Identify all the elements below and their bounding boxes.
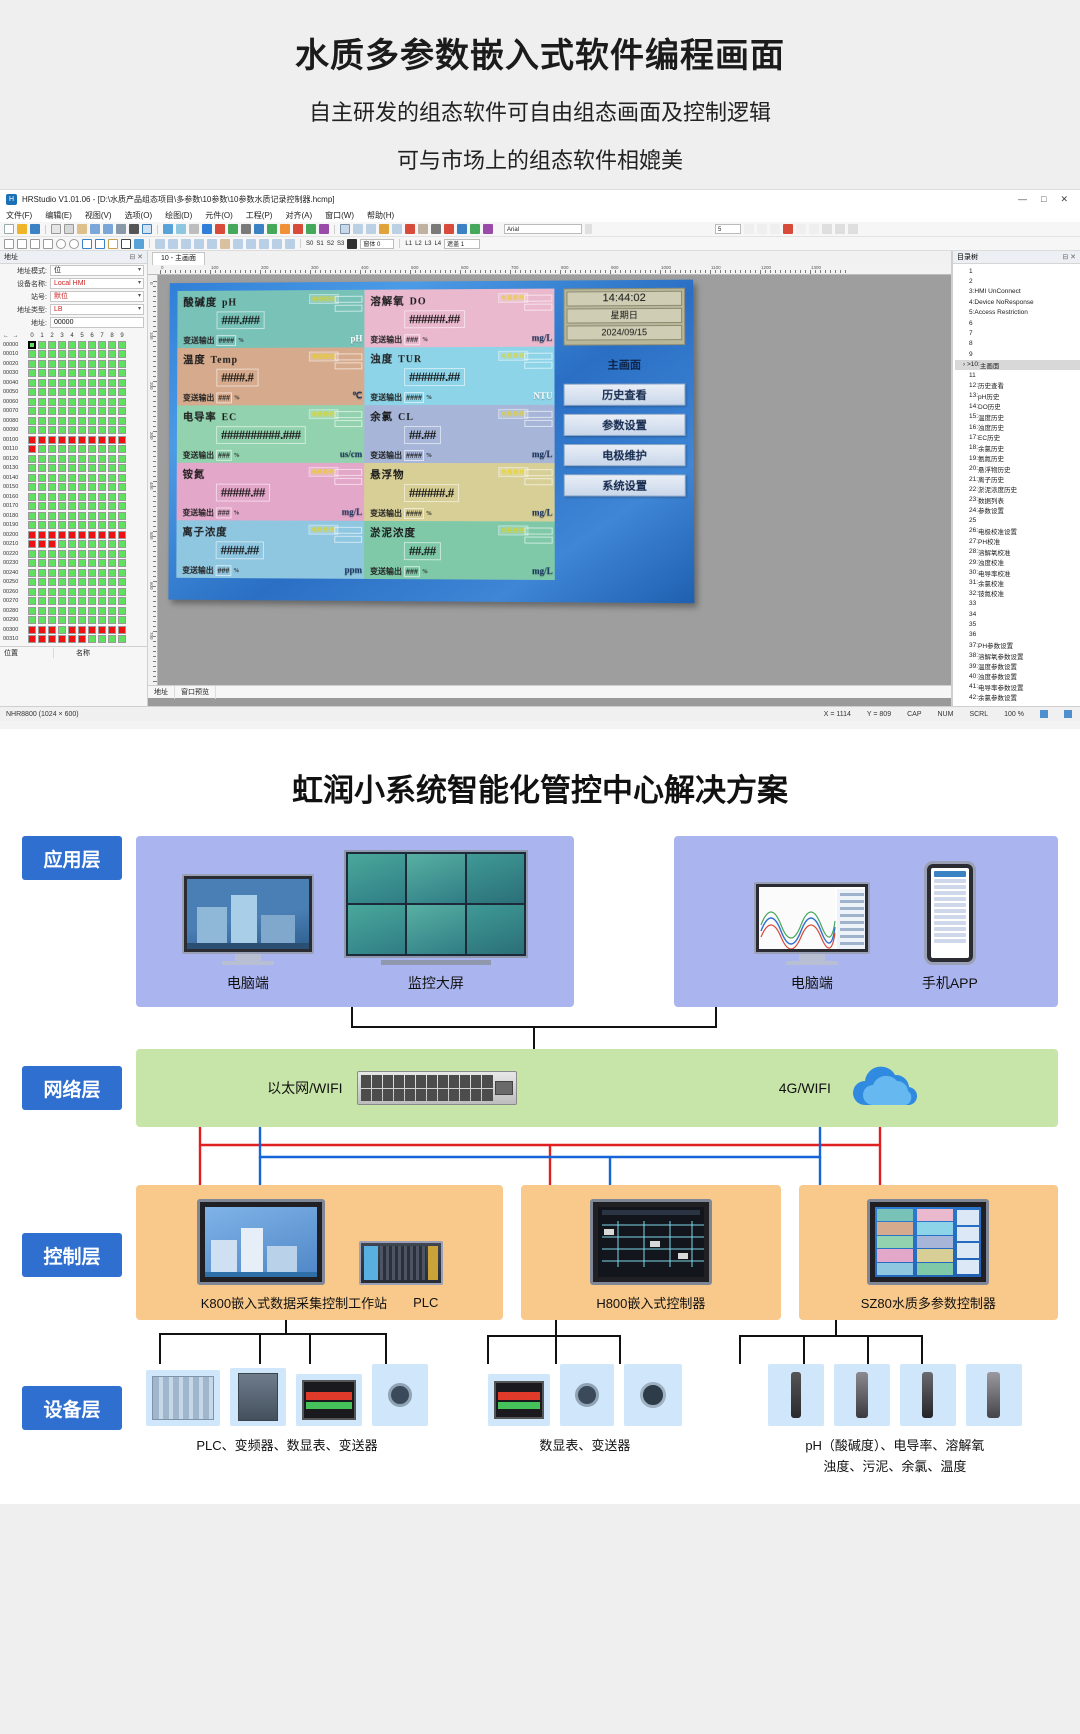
menu-options[interactable]: 选项(O) — [125, 210, 153, 221]
bar-graph-icon[interactable] — [259, 239, 269, 249]
bit-cell[interactable] — [88, 597, 96, 605]
bit-cell[interactable] — [68, 578, 76, 586]
bit-cell[interactable] — [68, 493, 76, 501]
bit-cell[interactable] — [38, 360, 46, 368]
bit-cell[interactable] — [68, 388, 76, 396]
bit-cell[interactable] — [108, 531, 116, 539]
undo-icon[interactable] — [90, 224, 100, 234]
bit-cell[interactable] — [98, 635, 106, 643]
bit-cell[interactable] — [98, 626, 106, 634]
tree-item[interactable]: 14: DO历史 — [955, 401, 1080, 411]
bit-cell[interactable] — [98, 398, 106, 406]
bit-cell[interactable] — [88, 531, 96, 539]
parameter-value-display[interactable]: ######.## — [404, 368, 465, 386]
hmi-preview[interactable]: 酸碱度pH电极断线###.###变送输出####%pH溶解氧DO电极断线####… — [168, 280, 694, 604]
bit-cell[interactable] — [88, 578, 96, 586]
bit-cell[interactable] — [88, 464, 96, 472]
tree-item[interactable]: 38: 溶解氧参数设置 — [955, 650, 1080, 660]
bit-cell[interactable] — [38, 569, 46, 577]
tree-item[interactable]: 12: 历史查看 — [955, 380, 1080, 390]
pointer-icon[interactable] — [142, 224, 152, 234]
bit-cell[interactable] — [98, 417, 106, 425]
tree-item[interactable]: 34 — [955, 609, 1080, 619]
layer-label-l4[interactable]: L4 — [434, 241, 441, 247]
copy-icon[interactable] — [51, 224, 61, 234]
bit-cell[interactable] — [88, 502, 96, 510]
bit-cell[interactable] — [58, 455, 66, 463]
shape-icon[interactable] — [176, 224, 186, 234]
parameter-card[interactable]: 余氯CL电极断线##.##变送输出####%mg/L — [364, 405, 554, 463]
bit-cell[interactable] — [78, 569, 86, 577]
bit-cell[interactable] — [108, 445, 116, 453]
bit-cell[interactable] — [58, 407, 66, 415]
bit-cell[interactable] — [98, 512, 106, 520]
tree-item[interactable]: 36 — [955, 630, 1080, 640]
bit-cell[interactable] — [98, 483, 106, 491]
bit-cell[interactable] — [38, 531, 46, 539]
minimize-button[interactable]: — — [1018, 194, 1027, 205]
bit-cell[interactable] — [28, 578, 36, 586]
bit-cell[interactable] — [98, 588, 106, 596]
transmit-output-value[interactable]: ### — [216, 507, 232, 518]
design-canvas[interactable]: 0100200300400500600700 酸碱度pH电极断线###.###变… — [148, 275, 951, 685]
bit-cell[interactable] — [108, 635, 116, 643]
bit-cell[interactable] — [68, 398, 76, 406]
tree-item[interactable]: 25 — [955, 515, 1080, 525]
font-grow-icon[interactable] — [744, 224, 754, 234]
new-file-icon[interactable] — [4, 224, 14, 234]
tree-item[interactable]: 35 — [955, 619, 1080, 629]
star-tool-icon[interactable] — [95, 239, 105, 249]
bit-cell[interactable] — [28, 521, 36, 529]
paste-icon[interactable] — [77, 224, 87, 234]
bit-cell[interactable] — [48, 407, 56, 415]
bit-cell[interactable] — [78, 607, 86, 615]
bit-cell[interactable] — [98, 540, 106, 548]
tree-item[interactable]: 3: HMI UnConnect — [955, 287, 1080, 297]
save-icon[interactable] — [30, 224, 40, 234]
picture-tool-icon[interactable] — [134, 239, 144, 249]
bit-lamp-icon[interactable] — [155, 239, 165, 249]
bit-cell[interactable] — [58, 417, 66, 425]
bit-cell[interactable] — [28, 502, 36, 510]
bit-cell[interactable] — [78, 588, 86, 596]
bit-cell[interactable] — [118, 464, 126, 472]
bit-cell[interactable] — [28, 350, 36, 358]
bit-cell[interactable] — [58, 502, 66, 510]
bit-cell[interactable] — [78, 436, 86, 444]
polyline-tool-icon[interactable] — [17, 239, 27, 249]
bit-cell[interactable] — [78, 550, 86, 558]
bit-cell[interactable] — [88, 445, 96, 453]
pin-icon[interactable] — [116, 224, 126, 234]
keypad-icon[interactable] — [285, 239, 295, 249]
bit-cell[interactable] — [118, 436, 126, 444]
bit-cell[interactable] — [58, 493, 66, 501]
bit-cell[interactable] — [38, 540, 46, 548]
bit-cell[interactable] — [108, 607, 116, 615]
menu-component[interactable]: 元件(O) — [205, 210, 233, 221]
bit-cell[interactable] — [38, 436, 46, 444]
bit-cell[interactable] — [118, 597, 126, 605]
menu-align[interactable]: 对齐(A) — [285, 210, 312, 221]
tree-item-list[interactable]: 123: HMI UnConnect4: Device NoResponse5:… — [953, 264, 1080, 702]
bit-cell[interactable] — [98, 597, 106, 605]
bit-cell[interactable] — [98, 445, 106, 453]
pie-tool-icon[interactable] — [69, 239, 79, 249]
parameter-card[interactable]: 电导率EC电极断线##########.###变送输出###%us/cm — [177, 405, 364, 463]
bit-cell[interactable] — [48, 379, 56, 387]
tree-item[interactable]: 6 — [955, 318, 1080, 328]
bit-cell[interactable] — [118, 379, 126, 387]
bit-cell[interactable] — [108, 588, 116, 596]
bit-cell[interactable] — [38, 578, 46, 586]
bit-cell[interactable] — [38, 597, 46, 605]
tree-item[interactable]: 28: 溶解氧校准 — [955, 547, 1080, 557]
bit-cell[interactable] — [98, 607, 106, 615]
bit-cell[interactable] — [48, 502, 56, 510]
bit-cell[interactable] — [68, 455, 76, 463]
bit-cell[interactable] — [118, 350, 126, 358]
bit-cell[interactable] — [88, 436, 96, 444]
bit-cell[interactable] — [38, 388, 46, 396]
hmi-button-history[interactable]: 历史查看 — [564, 383, 686, 405]
bit-cell[interactable] — [58, 635, 66, 643]
meter-icon[interactable] — [246, 239, 256, 249]
tree-item[interactable]: 42: 余氯参数设置 — [955, 692, 1080, 702]
layer-label-l1[interactable]: L1 — [405, 241, 412, 247]
bit-cell[interactable] — [88, 540, 96, 548]
bit-cell[interactable] — [28, 540, 36, 548]
bit-cell[interactable] — [98, 436, 106, 444]
bit-cell[interactable] — [78, 341, 86, 349]
tree-item[interactable]: 32: 铵氮校准 — [955, 588, 1080, 598]
bit-cell[interactable] — [48, 569, 56, 577]
hmi-button-param-settings[interactable]: 参数设置 — [564, 414, 686, 436]
bit-cell[interactable] — [58, 464, 66, 472]
bit-cell[interactable] — [68, 626, 76, 634]
transmit-output-value[interactable]: ### — [216, 565, 232, 576]
bit-cell[interactable] — [48, 436, 56, 444]
bit-cell[interactable] — [38, 607, 46, 615]
bit-cell[interactable] — [118, 341, 126, 349]
layer-label-l2[interactable]: L2 — [415, 241, 422, 247]
chevron-down-icon[interactable] — [585, 224, 592, 234]
bit-cell[interactable] — [98, 464, 106, 472]
bit-cell[interactable] — [118, 521, 126, 529]
bit-cell[interactable] — [108, 578, 116, 586]
parameter-card[interactable]: 浊度TUR电极断线######.##变送输出####%NTU — [364, 347, 554, 405]
cut-icon[interactable] — [64, 224, 74, 234]
bit-cell[interactable] — [118, 559, 126, 567]
parameter-card[interactable]: 温度Temp电极断线####.#变送输出###%℃ — [177, 347, 364, 405]
bit-cell[interactable] — [58, 559, 66, 567]
red-tool-icon[interactable] — [215, 224, 225, 234]
bit-cell[interactable] — [48, 445, 56, 453]
chevron-right-icon[interactable]: › — [963, 362, 965, 368]
bit-cell[interactable] — [58, 379, 66, 387]
bit-cell[interactable] — [68, 407, 76, 415]
transmit-output-value[interactable]: #### — [216, 335, 236, 346]
bit-cell[interactable] — [108, 540, 116, 548]
bit-cell[interactable] — [88, 341, 96, 349]
toggle-switch-icon[interactable] — [181, 239, 191, 249]
bit-cell[interactable] — [78, 417, 86, 425]
address-field-value[interactable]: LB — [50, 304, 144, 315]
bit-cell[interactable] — [28, 455, 36, 463]
bit-cell[interactable] — [118, 388, 126, 396]
layer-down-icon[interactable] — [457, 224, 467, 234]
layer-mask-field[interactable]: 遮盖 1 — [444, 239, 480, 249]
bit-cell[interactable] — [118, 588, 126, 596]
bit-cell[interactable] — [118, 635, 126, 643]
bit-cell[interactable] — [38, 464, 46, 472]
bit-cell[interactable] — [68, 360, 76, 368]
bit-cell[interactable] — [98, 578, 106, 586]
transmit-output-value[interactable]: #### — [404, 450, 424, 461]
bit-cell[interactable] — [88, 493, 96, 501]
bit-cell[interactable] — [38, 626, 46, 634]
bit-cell[interactable] — [88, 407, 96, 415]
parameter-value-display[interactable]: #####.## — [216, 484, 270, 502]
bit-cell[interactable] — [38, 512, 46, 520]
bit-cell[interactable] — [88, 426, 96, 434]
tree-item[interactable]: 11 — [955, 370, 1080, 380]
align-left-icon[interactable] — [353, 224, 363, 234]
font-shrink-icon[interactable] — [757, 224, 767, 234]
tree-item[interactable]: 16: 浊度历史 — [955, 422, 1080, 432]
tree-item[interactable]: 23: 数据列表 — [955, 495, 1080, 505]
bit-cell[interactable] — [38, 407, 46, 415]
bit-cell[interactable] — [88, 350, 96, 358]
underline-icon[interactable] — [796, 224, 806, 234]
bit-cell[interactable] — [28, 436, 36, 444]
mirror-icon[interactable] — [483, 224, 493, 234]
bit-cell[interactable] — [78, 559, 86, 567]
bit-cell[interactable] — [108, 398, 116, 406]
bit-cell[interactable] — [48, 607, 56, 615]
tree-item[interactable]: 8 — [955, 339, 1080, 349]
bit-cell[interactable] — [108, 474, 116, 482]
hmi-button-system-settings[interactable]: 系统设置 — [564, 474, 686, 496]
bit-cell[interactable] — [28, 407, 36, 415]
bit-cell[interactable] — [98, 521, 106, 529]
bit-cell[interactable] — [58, 398, 66, 406]
bit-cell[interactable] — [68, 464, 76, 472]
bit-cell[interactable] — [108, 464, 116, 472]
parameter-card[interactable]: 离子浓度电极断线####.##变送输出###%ppm — [176, 520, 364, 579]
bit-cell[interactable] — [28, 550, 36, 558]
bit-cell[interactable] — [68, 369, 76, 377]
bit-cell[interactable] — [28, 483, 36, 491]
bit-cell[interactable] — [28, 369, 36, 377]
transmit-output-value[interactable]: ### — [216, 450, 232, 461]
bit-cell[interactable] — [48, 455, 56, 463]
tree-item[interactable]: 30: 电导率校准 — [955, 567, 1080, 577]
bit-cell[interactable] — [68, 417, 76, 425]
bit-cell[interactable] — [48, 616, 56, 624]
bit-cell[interactable] — [88, 360, 96, 368]
parameter-card[interactable]: 酸碱度pH电极断线###.###变送输出####%pH — [177, 290, 364, 348]
bit-cell[interactable] — [108, 512, 116, 520]
bit-cell[interactable] — [118, 569, 126, 577]
bit-cell[interactable] — [28, 379, 36, 387]
bit-cell[interactable] — [68, 635, 76, 643]
bit-cell[interactable] — [58, 341, 66, 349]
bit-cell[interactable] — [108, 550, 116, 558]
text-box-icon[interactable] — [121, 239, 131, 249]
bit-cell[interactable] — [98, 616, 106, 624]
bit-cell[interactable] — [118, 512, 126, 520]
bit-cell[interactable] — [58, 616, 66, 624]
bit-cell[interactable] — [88, 474, 96, 482]
tree-item[interactable]: 26: 电极校准设置 — [955, 526, 1080, 536]
star-red-icon[interactable] — [293, 224, 303, 234]
parameter-value-display[interactable]: ##.## — [404, 426, 441, 444]
parameter-card[interactable]: 溶解氧DO电极断线######.##变送输出###%mg/L — [364, 289, 554, 348]
bit-cell[interactable] — [68, 474, 76, 482]
bit-cell[interactable] — [28, 616, 36, 624]
bit-cell[interactable] — [98, 426, 106, 434]
grid-nav-arrows[interactable]: ← → — [3, 333, 27, 339]
address-field-value[interactable]: 位 — [50, 265, 144, 276]
open-folder-icon[interactable] — [17, 224, 27, 234]
bit-cell[interactable] — [38, 616, 46, 624]
bit-cell[interactable] — [108, 616, 116, 624]
bit-cell[interactable] — [28, 360, 36, 368]
bit-cell[interactable] — [118, 483, 126, 491]
bit-cell[interactable] — [98, 493, 106, 501]
bit-cell[interactable] — [88, 588, 96, 596]
tree-item[interactable]: 20: 悬浮物历史 — [955, 463, 1080, 473]
tree-item[interactable]: 1 — [955, 266, 1080, 276]
address-field-value[interactable]: 00000 — [50, 317, 144, 328]
bit-cell[interactable] — [78, 540, 86, 548]
parameter-card[interactable]: 悬浮物电极断线######.#变送输出####%mg/L — [364, 463, 555, 522]
flag-icon[interactable] — [306, 224, 316, 234]
tree-item[interactable]: 7 — [955, 328, 1080, 338]
bit-cell[interactable] — [78, 398, 86, 406]
bit-cell[interactable] — [108, 455, 116, 463]
menu-draw[interactable]: 绘图(D) — [165, 210, 192, 221]
triangle-icon[interactable] — [202, 224, 212, 234]
bit-cell[interactable] — [108, 350, 116, 358]
bit-cell[interactable] — [58, 445, 66, 453]
bit-cell[interactable] — [78, 445, 86, 453]
bit-cell[interactable] — [108, 521, 116, 529]
bit-cell[interactable] — [108, 379, 116, 387]
bit-cell[interactable] — [68, 426, 76, 434]
bit-cell[interactable] — [48, 635, 56, 643]
bit-cell[interactable] — [58, 550, 66, 558]
align-right-icon[interactable] — [379, 224, 389, 234]
state-label-s3[interactable]: S3 — [337, 241, 344, 247]
bit-cell[interactable] — [28, 474, 36, 482]
tree-item[interactable]: 9 — [955, 349, 1080, 359]
bit-cell[interactable] — [118, 502, 126, 510]
tree-item[interactable]: 29: 浊度校准 — [955, 557, 1080, 567]
bit-cell[interactable] — [78, 616, 86, 624]
bold-icon[interactable] — [809, 224, 819, 234]
bit-cell[interactable] — [108, 426, 116, 434]
bit-cell[interactable] — [48, 597, 56, 605]
bit-cell[interactable] — [118, 531, 126, 539]
bit-cell[interactable] — [48, 426, 56, 434]
hmi-button-main-screen[interactable]: 主画面 — [564, 353, 686, 376]
bit-cell[interactable] — [58, 474, 66, 482]
parameter-card[interactable]: 淤泥浓度电极断线##.##变送输出###%mg/L — [364, 521, 555, 580]
address-field-value[interactable]: 默位 — [50, 291, 144, 302]
bit-cell[interactable] — [118, 474, 126, 482]
bit-cell[interactable] — [58, 521, 66, 529]
check-icon[interactable] — [267, 224, 277, 234]
bit-cell[interactable] — [58, 607, 66, 615]
bit-cell[interactable] — [28, 464, 36, 472]
bit-cell[interactable] — [58, 426, 66, 434]
bit-cell[interactable] — [88, 379, 96, 387]
bit-cell[interactable] — [118, 369, 126, 377]
layer-label-l3[interactable]: L3 — [425, 241, 432, 247]
bit-cell[interactable] — [48, 341, 56, 349]
bit-cell[interactable] — [88, 455, 96, 463]
tree-item[interactable]: 37: PH参数设置 — [955, 640, 1080, 650]
bit-cell[interactable] — [38, 398, 46, 406]
bit-cell[interactable] — [98, 388, 106, 396]
bit-cell[interactable] — [48, 550, 56, 558]
parameter-card[interactable]: 铵氮电极断线#####.##变送输出###%mg/L — [177, 463, 365, 521]
bit-cell[interactable] — [88, 388, 96, 396]
bit-cell[interactable] — [88, 483, 96, 491]
gear-icon[interactable] — [241, 224, 251, 234]
parameter-value-display[interactable]: ##########.### — [216, 426, 305, 444]
menu-view[interactable]: 视图(V) — [85, 210, 112, 221]
font-color-icon[interactable] — [783, 224, 793, 234]
maximize-button[interactable]: □ — [1041, 194, 1046, 205]
curve-tool-icon[interactable] — [30, 239, 40, 249]
redo-icon[interactable] — [103, 224, 113, 234]
slider-icon[interactable] — [272, 239, 282, 249]
bit-cell[interactable] — [58, 626, 66, 634]
bit-cell[interactable] — [28, 597, 36, 605]
bit-cell[interactable] — [58, 512, 66, 520]
bit-cell[interactable] — [38, 483, 46, 491]
bit-cell[interactable] — [78, 597, 86, 605]
recipe-icon[interactable] — [233, 239, 243, 249]
bit-cell[interactable] — [78, 350, 86, 358]
bit-cell[interactable] — [78, 379, 86, 387]
play-preview-icon[interactable] — [347, 239, 357, 249]
tree-item[interactable]: ›>10: 主画面 — [955, 360, 1080, 370]
menu-window[interactable]: 窗口(W) — [325, 210, 354, 221]
tree-item[interactable]: 5: Access Restriction — [955, 308, 1080, 318]
bit-cell[interactable] — [108, 559, 116, 567]
tree-item[interactable]: 22: 淤泥浓度历史 — [955, 484, 1080, 494]
bit-cell[interactable] — [98, 360, 106, 368]
bit-cell[interactable] — [68, 559, 76, 567]
bit-cell[interactable] — [48, 398, 56, 406]
bit-cell[interactable] — [68, 436, 76, 444]
bit-cell[interactable] — [118, 550, 126, 558]
bit-cell[interactable] — [38, 521, 46, 529]
bit-cell[interactable] — [28, 341, 36, 349]
bit-cell[interactable] — [48, 483, 56, 491]
bit-cell[interactable] — [108, 597, 116, 605]
bit-cell[interactable] — [108, 626, 116, 634]
bit-cell[interactable] — [88, 512, 96, 520]
bit-cell[interactable] — [58, 578, 66, 586]
grid-icon[interactable] — [340, 224, 350, 234]
bit-cell[interactable] — [58, 483, 66, 491]
